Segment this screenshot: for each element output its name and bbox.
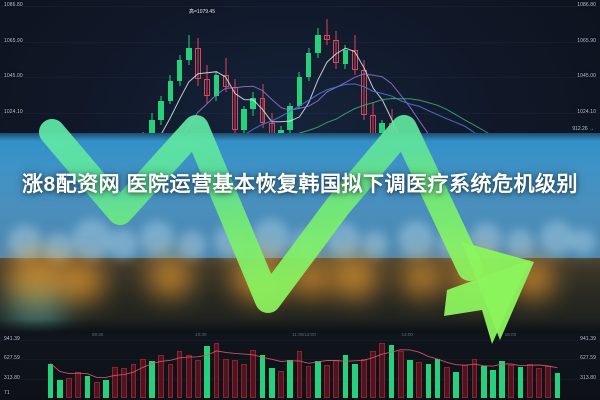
volume-bar: [204, 346, 210, 398]
volume-bar: [168, 364, 174, 399]
volume-bar: [333, 360, 339, 398]
volume-tick-label-left: 71: [4, 391, 10, 396]
bokeh-light: [438, 229, 466, 257]
candle-body: [315, 35, 321, 54]
candle-body: [250, 98, 256, 110]
volume-bar: [453, 372, 459, 398]
price-tick-label-right: 1086.80: [577, 3, 596, 8]
volume-bar: [75, 372, 81, 398]
candle-body: [361, 70, 367, 114]
volume-bar: [306, 366, 312, 398]
bokeh-light: [292, 229, 320, 257]
price-tick-label-left: 1045.00: [4, 74, 23, 79]
volume-tick-label-right: 941.39: [580, 337, 596, 342]
price-tick-label-right: 1065.90: [577, 39, 596, 44]
candle-body: [324, 35, 330, 40]
volume-bar: [250, 350, 256, 398]
bokeh-light: [72, 219, 112, 259]
volume-bar: [499, 361, 505, 398]
volume-bar: [149, 361, 155, 398]
bokeh-light: [178, 231, 206, 259]
bokeh-light: [362, 231, 388, 257]
cityscape-photo-overlay: [0, 133, 600, 333]
bokeh-light: [512, 259, 554, 299]
volume-bar: [315, 361, 321, 398]
high-price-annotation: 高=1079.45: [189, 8, 215, 15]
gridline: [0, 340, 600, 341]
volume-bar: [112, 367, 118, 398]
volume-panel: 941.39627.59313.8071 941.39627.59313.80: [0, 330, 600, 400]
volume-bar: [223, 359, 229, 398]
volume-bar: [361, 359, 367, 398]
price-tick-label-left: 1024.10: [4, 110, 23, 115]
candle-body: [158, 101, 164, 120]
volume-tick-label-right: 313.80: [580, 376, 596, 381]
banner-image: 1086.801065.901045.001024.101003.20982.3…: [0, 0, 600, 400]
candle-body: [232, 87, 238, 130]
bokeh-light: [540, 221, 574, 255]
volume-bar: [536, 368, 542, 398]
candle-body: [241, 109, 247, 129]
volume-bar: [490, 370, 496, 398]
volume-bar: [177, 351, 183, 398]
candle-body: [186, 48, 192, 60]
price-tick-label-left: 1065.90: [4, 39, 23, 44]
volume-tick-label-right: 627.59: [580, 356, 596, 361]
bokeh-light: [330, 255, 378, 299]
volume-bar: [462, 365, 468, 398]
volume-bar: [85, 376, 91, 398]
candle-body: [333, 40, 339, 64]
volume-bar: [389, 345, 395, 398]
candle-body: [214, 75, 220, 95]
volume-bar: [232, 360, 238, 398]
bokeh-light: [214, 225, 246, 257]
volume-bar: [103, 380, 109, 398]
bokeh-light: [570, 229, 596, 255]
volume-bar: [379, 343, 385, 398]
bokeh-light: [290, 259, 330, 297]
price-tick-label-right: 1024.10: [577, 110, 596, 115]
volume-bar: [416, 362, 422, 398]
candle-body: [260, 98, 266, 124]
volume-bar: [545, 366, 551, 398]
volume-tick-label-left: 941.39: [4, 337, 20, 342]
volume-bar: [48, 364, 54, 399]
volume-bar: [481, 366, 487, 398]
volume-bar: [140, 359, 146, 398]
volume-bar: [407, 360, 413, 398]
volume-bar: [555, 373, 561, 398]
volume-bar: [195, 360, 201, 398]
price-tick-label-left: 1086.80: [4, 3, 23, 8]
volume-bar: [398, 351, 404, 398]
candle-body: [287, 106, 293, 130]
candle-body: [168, 81, 174, 101]
candle-body: [297, 77, 303, 106]
bokeh-light: [452, 253, 502, 299]
volume-bar: [324, 365, 330, 398]
volume-bar: [518, 367, 524, 398]
volume-bar: [278, 371, 284, 398]
band-fade-bottom: [0, 319, 600, 333]
volume-bar: [444, 367, 450, 398]
volume-bar: [343, 355, 349, 398]
volume-bar: [472, 359, 478, 398]
candle-body: [306, 53, 312, 77]
volume-bar: [121, 368, 127, 398]
volume-bar: [260, 355, 266, 398]
volume-bar: [57, 380, 63, 398]
volume-bar: [527, 364, 533, 399]
candle-body: [195, 48, 201, 79]
candle-wick: [327, 19, 328, 45]
volume-bar: [297, 351, 303, 398]
last-price-tag: 912.26 →: [572, 126, 594, 132]
candle-body: [343, 50, 349, 64]
bokeh-light: [232, 253, 286, 301]
bokeh-light: [108, 229, 138, 259]
volume-bar: [435, 359, 441, 398]
volume-bar: [269, 368, 275, 398]
candle-body: [204, 79, 210, 96]
volume-bar: [287, 360, 293, 398]
volume-bar: [241, 364, 247, 399]
volume-bar: [508, 365, 514, 398]
volume-bar: [94, 382, 100, 398]
candle-body: [352, 50, 358, 70]
bokeh-light: [252, 219, 290, 257]
price-tick-label-right: 1045.00: [577, 74, 596, 79]
band-fade-top: [0, 133, 600, 141]
bokeh-light: [506, 229, 534, 257]
bokeh-light: [470, 223, 502, 255]
volume-bar: [370, 351, 376, 398]
bokeh-light: [148, 257, 192, 297]
bokeh-light: [326, 223, 360, 257]
candle-body: [177, 60, 183, 80]
volume-tick-label-left: 313.80: [4, 376, 20, 381]
bokeh-light: [398, 221, 434, 257]
volume-bar: [131, 364, 137, 399]
headline-text: 涨8配资网 医院运营基本恢复韩国拟下调医疗系统危机级别: [0, 168, 600, 202]
volume-bar: [66, 378, 72, 398]
volume-bar: [214, 343, 220, 398]
volume-bar: [186, 355, 192, 398]
candle-body: [223, 75, 229, 87]
bokeh-light: [402, 259, 442, 297]
bokeh-light: [140, 221, 174, 255]
volume-bar: [352, 364, 358, 399]
volume-tick-label-left: 627.59: [4, 356, 20, 361]
volume-bar: [426, 364, 432, 399]
volume-bar: [158, 355, 164, 398]
